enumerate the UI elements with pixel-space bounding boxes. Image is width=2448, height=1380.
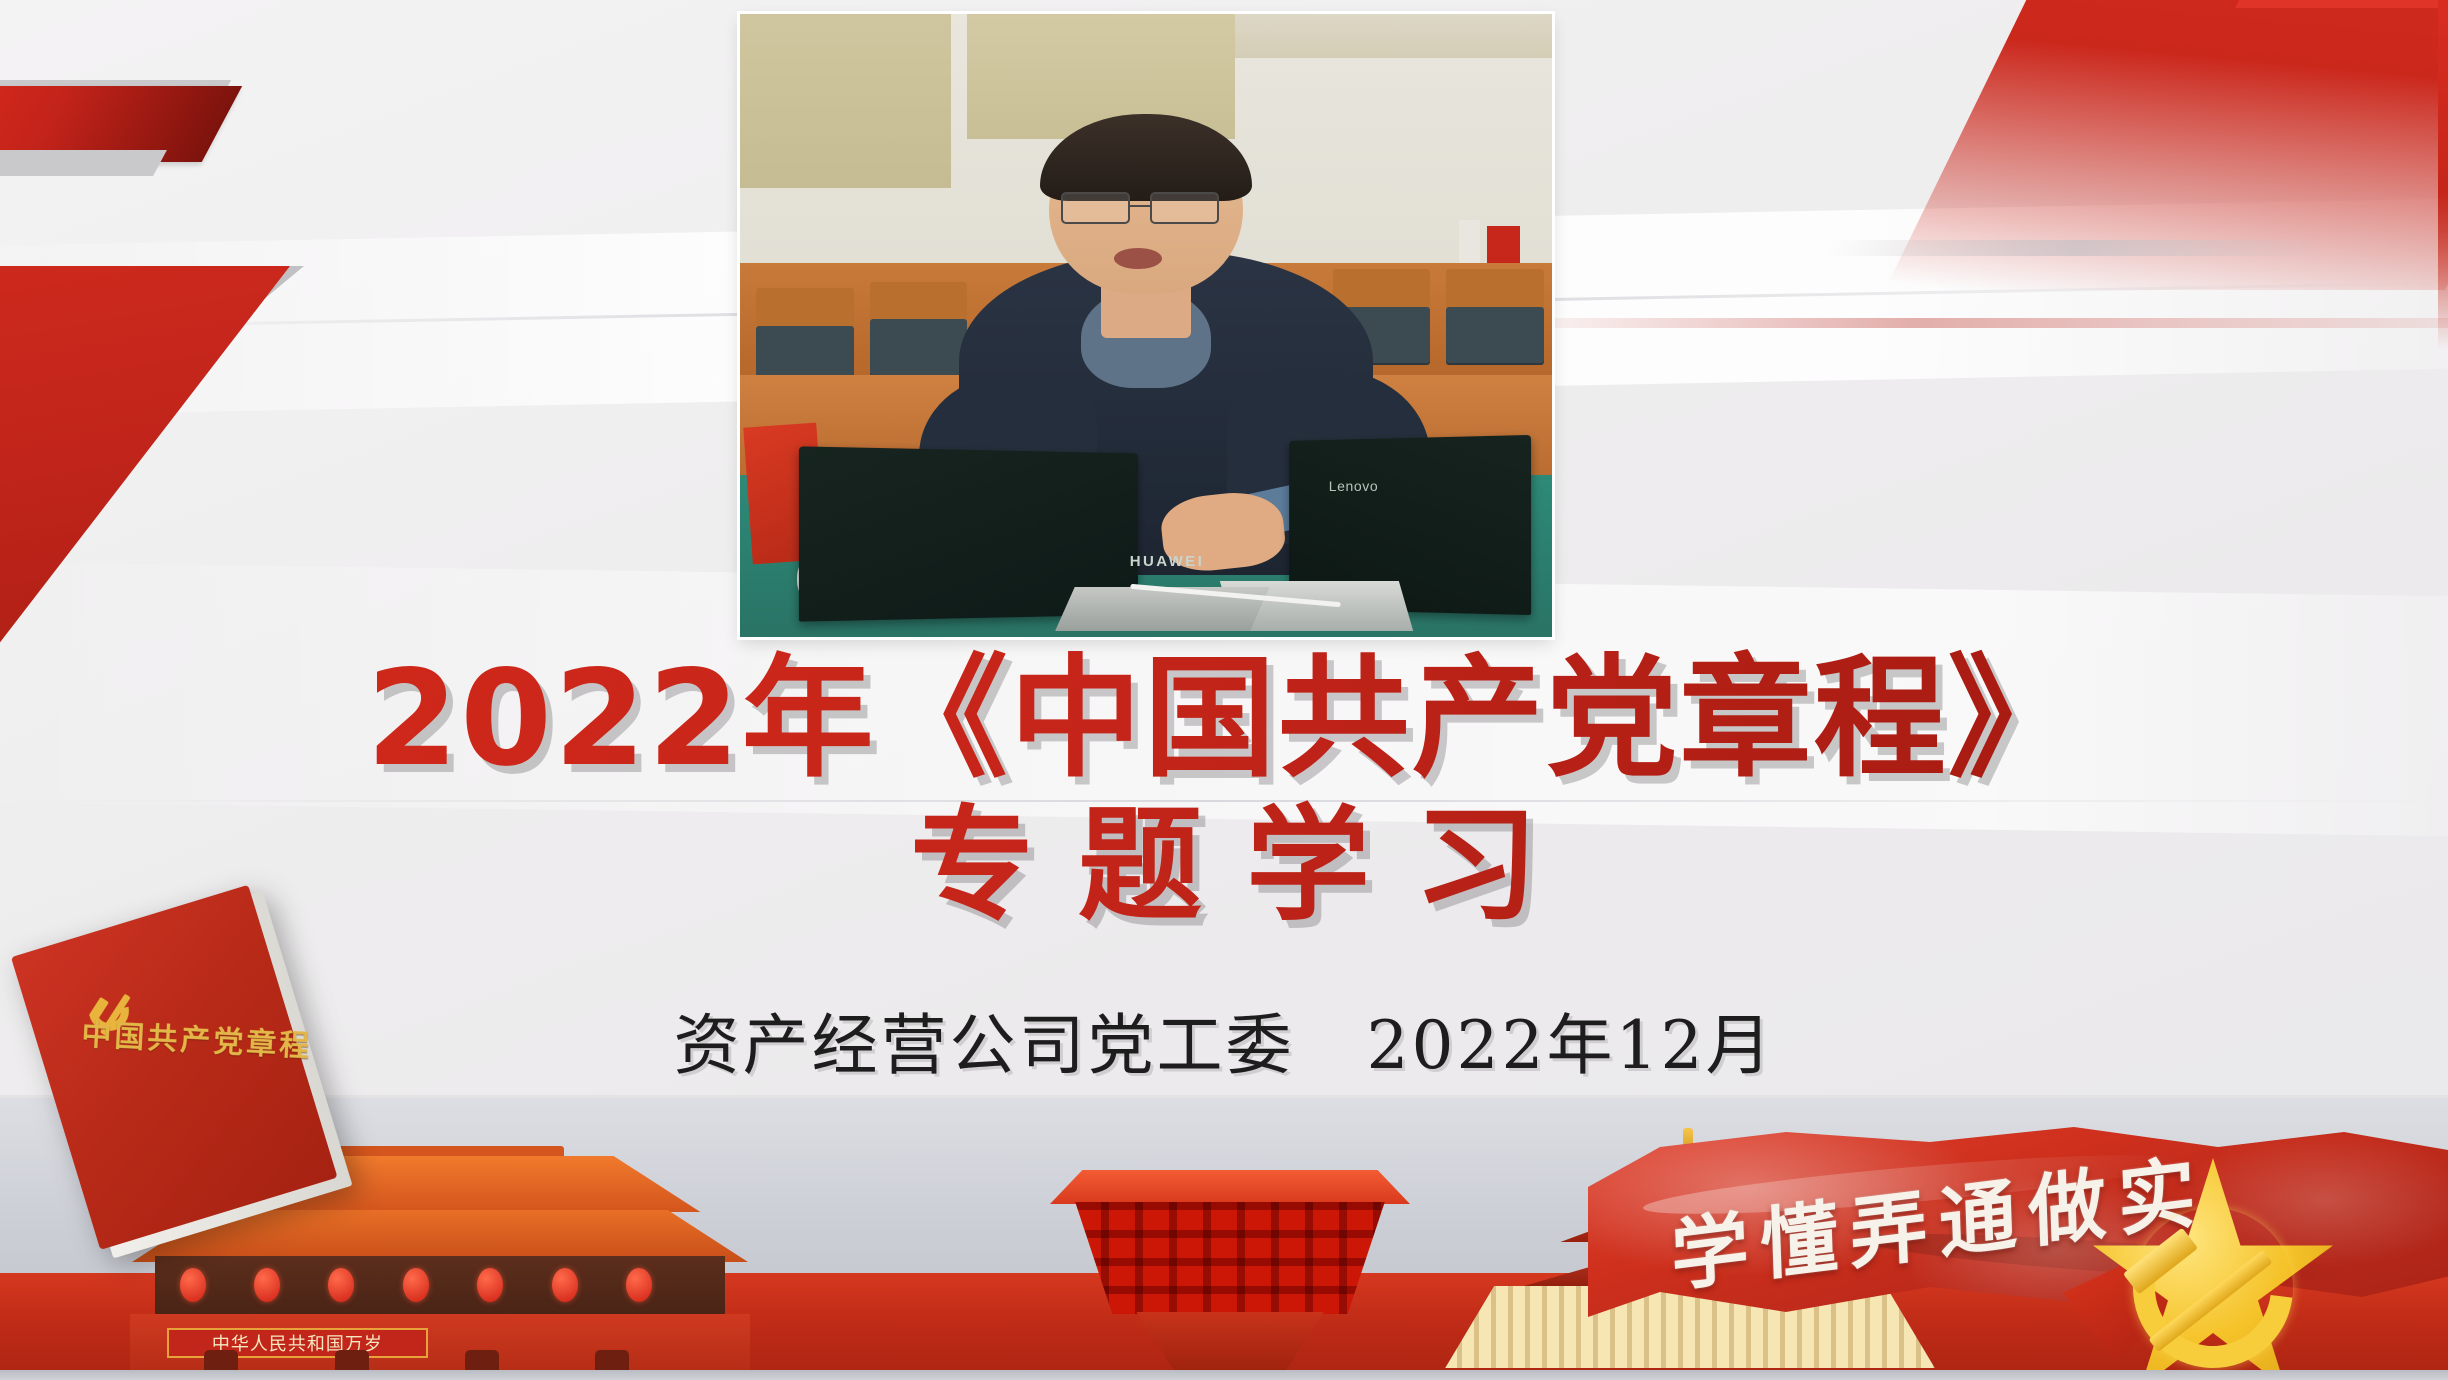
decor-red-cap-top-right [2235,0,2448,8]
subtitle-line: 资产经营公司党工委2022年12月 [0,992,2448,1088]
title-line-2: 专题学习 [0,791,2448,942]
china-pavilion-body [1075,1202,1385,1314]
decor-gray-bar-top-left-lower [0,150,167,176]
photo-person-glasses-right [1150,192,1219,224]
photo-person-glasses-left [1061,192,1130,224]
photo-laptop-lenovo-label: Lenovo [1329,478,1379,494]
tiananmen-lantern [552,1268,578,1302]
decor-gray-shadow-top-right [1824,240,2332,256]
subtitle-date: 2022年12月 [1367,1007,1775,1084]
photo-chair [756,326,853,382]
china-pavilion-cap [1050,1170,1410,1204]
title-line-1: 2022年《中国共产党章程》 [0,648,2448,791]
tiananmen-lantern [626,1268,652,1302]
tiananmen-lantern [180,1268,206,1302]
photo-window-blind-right [1235,14,1552,58]
tiananmen-lantern [477,1268,503,1302]
photo-person-glasses-bridge [1130,205,1151,208]
tiananmen-lantern [403,1268,429,1302]
tiananmen-lantern [254,1268,280,1302]
photo-window-blind-left [740,14,951,188]
china-pavilion-base [1136,1312,1323,1370]
title-block: 2022年《中国共产党章程》 专题学习 [0,648,2448,942]
bottom-banner: 中华人民共和国万岁 学懂弄通做实 [0,1095,2448,1380]
party-emblem-icon [2088,1158,2338,1380]
meeting-photo: Lenovo HUAWEI [740,14,1552,637]
photo-laptop-huawei-label: HUAWEI [1130,553,1204,570]
subtitle-organization: 资产经营公司党工委 [674,1007,1295,1084]
photo-content: Lenovo HUAWEI [740,14,1552,637]
photo-chair [870,319,967,375]
china-pavilion-illustration [1050,1170,1410,1370]
photo-bottle [1459,220,1480,264]
presentation-slide: Lenovo HUAWEI 2022年《中国共产党章程》 专题学习 资产经营公司… [0,0,2448,1380]
photo-chair [1446,307,1543,363]
decor-red-edge-strip-right [2438,0,2448,350]
decor-pink-line-right [1480,318,2448,328]
book-title-text: 中国共产党章程 [81,1018,233,1060]
banner-bottom-edge [0,1370,2448,1380]
